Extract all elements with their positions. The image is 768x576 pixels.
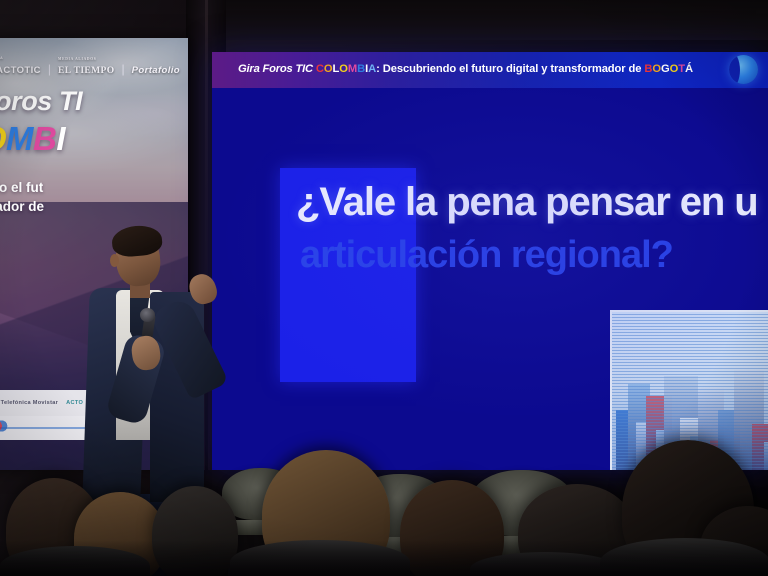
poster-logo-separator-2: |	[122, 62, 125, 76]
letter-2: G	[661, 63, 670, 75]
letter-5: I	[56, 120, 65, 158]
poster-organizer-label: ORGANIZA	[0, 56, 3, 60]
speaker-ear	[110, 254, 119, 267]
poster-logo-impactotic-text: IMPACTOTIC	[0, 65, 41, 76]
slide-header-tagline: Descubriendo el futuro digital y transfo…	[383, 63, 642, 75]
speaker-figure	[86, 226, 226, 526]
slide-header-text: Gira Foros TIC COLOMBIA: Descubriendo el…	[238, 64, 693, 75]
slide-header-city: BOGOTÁ	[644, 63, 693, 75]
letter-5: B	[357, 63, 365, 75]
poster-colombia-wordmark: OLOMBI	[0, 120, 176, 158]
poster-sponsor-logo-row: ORGANIZA IMPACTOTIC | MEDIA ALIADOS EL T…	[0, 46, 188, 76]
poster-logo-eltiempo: MEDIA ALIADOS EL TIEMPO	[58, 66, 114, 76]
poster-media-label: MEDIA ALIADOS	[58, 57, 96, 61]
audience-shoulders	[600, 538, 768, 576]
poster-logo-impactotic: ORGANIZA IMPACTOTIC	[0, 65, 41, 76]
slide-header-band: Gira Foros TIC COLOMBIA: Descubriendo el…	[212, 52, 768, 88]
slide-question-line-1: ¿Vale la pena pensar en u	[296, 182, 768, 222]
globe-icon	[729, 55, 758, 84]
poster-footer-logo-2: ACTO	[66, 400, 83, 406]
letter-4: M	[348, 63, 357, 75]
letter-5: Á	[685, 63, 693, 75]
slide-header-brand: Gira Foros TIC	[238, 63, 313, 75]
poster-subtitle-line2: ansformador de	[0, 197, 182, 216]
letter-1: O	[652, 63, 661, 75]
letter-1: O	[324, 63, 333, 75]
poster-logo-eltiempo-text: EL TIEMPO	[58, 66, 114, 76]
letter-3: M	[6, 120, 33, 158]
slide-question-line-2: articulación regional?	[300, 236, 768, 274]
poster-logo-portafolio: Portafolio	[132, 65, 180, 76]
poster-subtitle: cubriendo el fut ansformador de	[0, 178, 182, 216]
projected-slide: Gira Foros TIC COLOMBIA: Descubriendo el…	[212, 52, 768, 470]
poster-logo-separator-1: |	[48, 62, 51, 76]
audience-head	[152, 486, 238, 576]
letter-0: C	[316, 63, 324, 75]
letter-7: A	[368, 63, 376, 75]
letter-3: O	[339, 63, 348, 75]
poster-footer-mark	[0, 420, 8, 432]
microphone-head-icon	[140, 308, 155, 322]
letter-4: B	[33, 120, 56, 158]
letter-4: T	[678, 63, 685, 75]
slide-header-country: COLOMBIA	[316, 63, 376, 75]
audience-shoulders	[230, 540, 410, 576]
poster-subtitle-line1: cubriendo el fut	[0, 178, 182, 197]
poster-title: ira Foros TI	[0, 86, 170, 117]
letter-3: O	[670, 63, 679, 75]
poster-footer-logo-1: Telefónica Movistar	[1, 400, 59, 406]
screenshot-stage: ORGANIZA IMPACTOTIC | MEDIA ALIADOS EL T…	[0, 0, 768, 576]
